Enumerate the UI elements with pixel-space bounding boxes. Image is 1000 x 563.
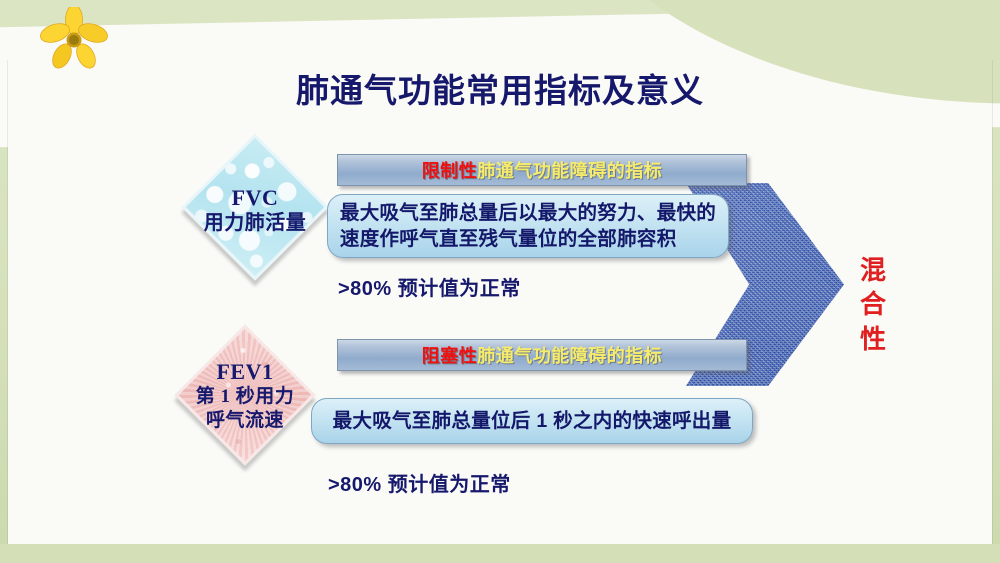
fvc-normal-range-note: >80% 预计值为正常 xyxy=(338,272,521,301)
restrictive-emphasis: 限制性 xyxy=(422,157,478,183)
mixed-type-label: 混 合 性 xyxy=(856,253,890,356)
mixed-label-char-1: 混 xyxy=(856,253,890,287)
fev1-normal-range-note: >80% 预计值为正常 xyxy=(328,468,511,497)
restrictive-header-bar: 限制性肺通气功能障碍的指标 xyxy=(337,154,747,186)
panel-left-edge xyxy=(7,60,8,544)
restrictive-rest: 肺通气功能障碍的指标 xyxy=(477,157,662,183)
obstructive-rest: 肺通气功能障碍的指标 xyxy=(477,342,662,368)
page-title: 肺通气功能常用指标及意义 xyxy=(0,64,1000,112)
fev1-description-text: 最大吸气至肺总量位后 1 秒之内的快速呼出量 xyxy=(333,408,732,434)
slide-canvas: 肺通气功能常用指标及意义 混 合 性 FVC 用力肺活量 限制性肺通气功能障碍的… xyxy=(0,0,1000,563)
bottom-strip xyxy=(0,544,1000,563)
obstructive-header-bar: 阻塞性肺通气功能障碍的指标 xyxy=(337,339,747,371)
fvc-description-text: 最大吸气至肺总量后以最大的努力、最快的 速度作呼气直至残气量位的全部肺容积 xyxy=(340,200,716,252)
panel-right-edge xyxy=(992,60,993,544)
mixed-label-char-3: 性 xyxy=(856,322,890,356)
obstructive-emphasis: 阻塞性 xyxy=(422,342,478,368)
fvc-description-box: 最大吸气至肺总量后以最大的努力、最快的 速度作呼气直至残气量位的全部肺容积 xyxy=(327,194,729,258)
fev1-description-box: 最大吸气至肺总量位后 1 秒之内的快速呼出量 xyxy=(311,398,753,444)
mixed-label-char-2: 合 xyxy=(856,287,890,321)
